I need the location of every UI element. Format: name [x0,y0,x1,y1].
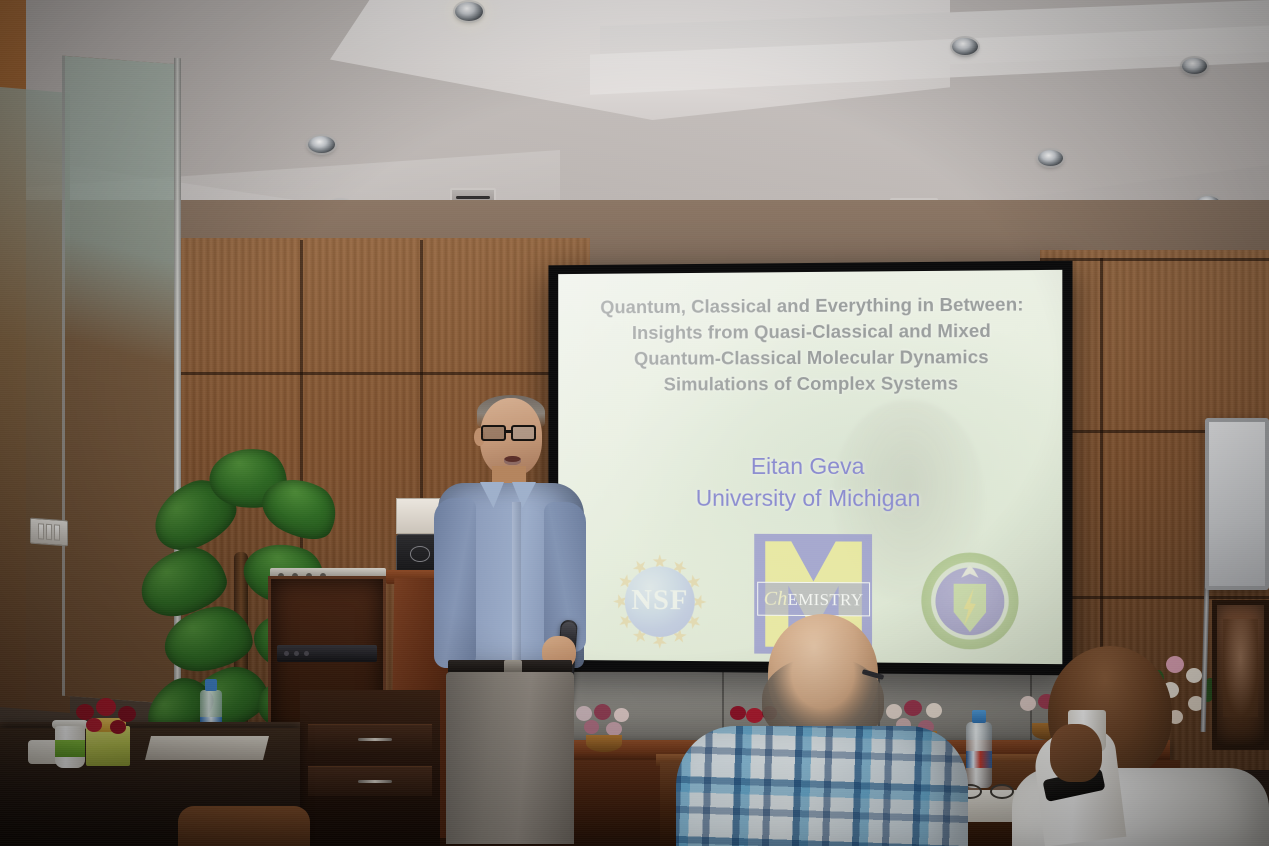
light-switch-panel[interactable] [30,518,68,547]
presenter-mouth [504,456,521,465]
flower-basket [70,698,146,738]
flower-basket [572,704,636,752]
attendee-white-shirt [1012,646,1269,846]
downlight-icon [952,38,978,55]
wall-panel-seam [1040,596,1269,599]
slide-author-block: Eitan Geva University of Michigan [558,451,1062,515]
water-bottle[interactable] [966,722,992,788]
presenter [418,398,598,846]
switch-toggle-icon[interactable] [38,523,44,539]
av-storage-cabinet [300,690,440,846]
cabinet-drawer[interactable] [308,766,432,796]
slide-title-line: Insights from Quasi-Classical and Mixed [578,318,1047,347]
glass-partition-outer [0,87,70,713]
nsf-logo-text: NSF [613,584,708,617]
projection-screen-surface: Quantum, Classical and Everything in Bet… [558,270,1062,664]
eyeglass-lens-icon [990,784,1014,799]
slide-title: Quantum, Classical and Everything in Bet… [578,292,1047,398]
presenter-trousers [446,672,574,844]
whiteboard[interactable] [1205,418,1269,590]
attendee-plaid-shirt-body [676,726,968,846]
downlight-icon [1182,58,1207,74]
presenter-left-arm [434,498,476,668]
slide-title-line: Quantum, Classical and Everything in Bet… [578,292,1047,321]
cabinet-drawer[interactable] [308,724,432,754]
documents-on-table[interactable] [145,736,269,760]
conference-photo-scene: Quantum, Classical and Everything in Bet… [0,0,1269,846]
downlight-icon [455,2,483,21]
presenter-name: Eitan Geva [558,451,1062,483]
wall-panel-seam [180,372,560,375]
slide-title-line: Simulations of Complex Systems [578,370,1047,398]
switch-toggle-icon[interactable] [54,524,60,540]
downlight-icon [1038,150,1063,166]
chemistry-lead-letters: Ch [764,587,788,609]
attendee-hand [1050,724,1102,782]
slide-title-line: Quantum-Classical Molecular Dynamics [578,344,1047,372]
chemistry-wordmark: ChEMISTRY [757,582,870,616]
av-component[interactable] [277,645,377,662]
switch-toggle-icon[interactable] [46,524,52,540]
chemistry-rest-letters: EMISTRY [788,589,864,608]
presenter-affiliation: University of Michigan [558,483,1062,515]
attendee-plaid-shirt [676,614,968,846]
wall-panel-seam [1040,258,1269,261]
chair[interactable] [178,806,310,846]
downlight-icon [308,136,335,153]
presenter-shirt-placket [512,502,521,660]
presenter-collar [480,482,536,510]
eyeglasses-icon [481,425,543,442]
